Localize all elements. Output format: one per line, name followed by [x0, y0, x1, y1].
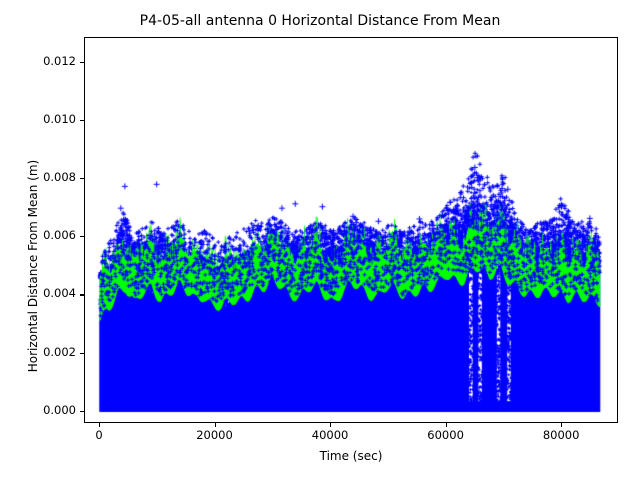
y-axis-label-wrapper: Horizontal Distance From Mean (m)	[0, 37, 24, 423]
figure-canvas: P4-05-all antenna 0 Horizontal Distance …	[0, 0, 640, 480]
y-tick-mark	[80, 411, 84, 412]
x-tick-mark	[330, 423, 331, 427]
y-tick-mark	[80, 120, 84, 121]
y-axis-label: Horizontal Distance From Mean (m)	[26, 73, 40, 459]
y-tick-mark	[80, 62, 84, 63]
y-tick-mark	[80, 236, 84, 237]
x-tick-label: 20000	[170, 428, 260, 442]
plot-area	[84, 37, 618, 423]
x-tick-mark	[99, 423, 100, 427]
x-tick-mark	[215, 423, 216, 427]
x-tick-label: 0	[54, 428, 144, 442]
x-tick-label: 40000	[285, 428, 375, 442]
x-tick-label: 60000	[401, 428, 491, 442]
y-tick-mark	[80, 294, 84, 295]
x-tick-mark	[446, 423, 447, 427]
x-axis-label: Time (sec)	[84, 449, 618, 463]
x-tick-label: 80000	[516, 428, 606, 442]
x-tick-mark	[561, 423, 562, 427]
scatter-plot-canvas	[85, 38, 617, 422]
y-tick-mark	[80, 353, 84, 354]
page-title: P4-05-all antenna 0 Horizontal Distance …	[0, 13, 640, 29]
y-tick-mark	[80, 178, 84, 179]
